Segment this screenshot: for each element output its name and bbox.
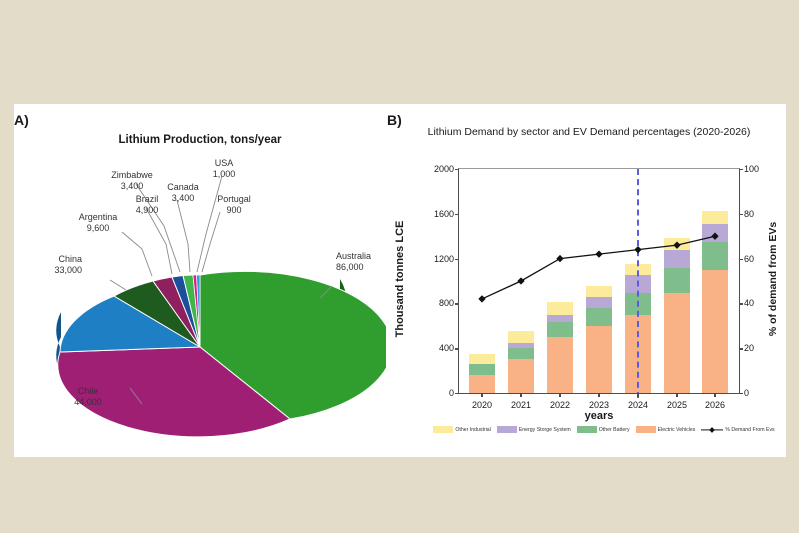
y-right-tick-mark <box>739 393 743 394</box>
bar-y-left-axis-title: Thousand tonnes LCE <box>394 221 406 338</box>
bar-segment-electric-vehicles <box>547 337 573 393</box>
bar-segment-other-battery <box>664 268 690 293</box>
x-tick-mark <box>481 393 482 397</box>
bar-plot-area: 0400800120016002000 020406080100 2020202… <box>458 168 740 394</box>
legend-item[interactable]: Energy Storge System <box>497 426 571 433</box>
bar-segment-electric-vehicles <box>586 326 612 393</box>
y-left-tick-mark <box>455 348 459 349</box>
pie-label-chile: Chile 44,000 <box>58 386 118 407</box>
y-right-tick-label: 60 <box>744 254 772 264</box>
y-right-tick-mark <box>739 259 743 260</box>
x-tick-mark <box>714 393 715 397</box>
bar-segment-other-battery <box>547 322 573 337</box>
bar-column <box>508 169 534 393</box>
bar-segment-electric-vehicles <box>702 270 728 393</box>
legend-label: Other Battery <box>599 427 630 433</box>
bar-chart-legend: Other IndustrialEnergy Storge SystemOthe… <box>426 426 782 433</box>
y-left-tick-label: 1600 <box>424 209 454 219</box>
bar-segment-electric-vehicles <box>664 293 690 393</box>
bar-segment-other-battery <box>586 308 612 326</box>
bar-segment-electric-vehicles <box>469 375 495 393</box>
legend-color-swatch <box>577 426 597 433</box>
y-right-tick-mark <box>739 169 743 170</box>
bar-segment-other-industrial <box>469 354 495 364</box>
y-left-tick-label: 2000 <box>424 164 454 174</box>
legend-item[interactable]: Electric Vehicles <box>636 426 696 433</box>
pie-label-argentina: Argentina 9,600 <box>60 212 136 233</box>
bar-segment-energy-storge-system <box>664 250 690 268</box>
pie-label-china: China 33,000 <box>10 254 82 275</box>
pie-label-usa: USA 1,000 <box>200 158 248 179</box>
y-left-tick-label: 1200 <box>424 254 454 264</box>
bar-segment-energy-storge-system <box>547 315 573 323</box>
bar-y-right-axis-title: % of demand from EVs <box>767 222 779 336</box>
bar-chart-title: Lithium Demand by sector and EV Demand p… <box>394 126 784 138</box>
x-tick-mark <box>637 393 638 397</box>
bar-column <box>664 169 690 393</box>
bar-x-axis-title: years <box>458 410 740 422</box>
legend-item[interactable]: Other Industrial <box>433 426 490 433</box>
y-left-tick-mark <box>455 214 459 215</box>
bar-segment-other-battery <box>508 348 534 360</box>
pie-label-portugal: Portugal 900 <box>206 194 262 215</box>
vertical-dashed-marker-2024 <box>637 169 639 398</box>
y-right-tick-label: 20 <box>744 343 772 353</box>
y-right-tick-label: 0 <box>744 388 772 398</box>
bar-segment-other-industrial <box>586 286 612 297</box>
bar-segment-other-battery <box>469 364 495 375</box>
x-tick-mark <box>520 393 521 397</box>
y-left-tick-mark <box>455 393 459 394</box>
legend-label: Other Industrial <box>455 427 490 433</box>
bar-segment-other-battery <box>702 242 728 270</box>
y-right-tick-label: 80 <box>744 209 772 219</box>
y-right-tick-mark <box>739 214 743 215</box>
legend-color-swatch <box>433 426 453 433</box>
legend-item[interactable]: % Demand From Evs <box>701 426 774 433</box>
legend-item[interactable]: Other Battery <box>577 426 630 433</box>
bar-segment-other-industrial <box>702 211 728 224</box>
x-tick-label: 2026 <box>692 400 738 410</box>
legend-color-swatch <box>636 426 656 433</box>
y-right-tick-mark <box>739 303 743 304</box>
bar-segment-energy-storge-system <box>702 224 728 242</box>
figure-root: A) B) Lithium Production, tons/year <box>0 0 799 533</box>
legend-color-swatch <box>497 426 517 433</box>
bar-segment-energy-storge-system <box>586 297 612 308</box>
pie-label-australia: Australia 86,000 <box>336 251 392 272</box>
x-tick-mark <box>676 393 677 397</box>
y-right-tick-mark <box>739 348 743 349</box>
y-right-tick-label: 100 <box>744 164 772 174</box>
bar-segment-electric-vehicles <box>508 359 534 393</box>
legend-label: Electric Vehicles <box>658 427 696 433</box>
x-tick-mark <box>598 393 599 397</box>
y-left-tick-mark <box>455 303 459 304</box>
bar-segment-other-industrial <box>508 331 534 343</box>
y-left-tick-label: 0 <box>424 388 454 398</box>
bar-column <box>547 169 573 393</box>
panel-b-bar-chart: Lithium Demand by sector and EV Demand p… <box>386 104 786 457</box>
y-right-tick-label: 40 <box>744 298 772 308</box>
y-left-tick-mark <box>455 259 459 260</box>
y-left-tick-label: 800 <box>424 298 454 308</box>
legend-label: Energy Storge System <box>519 427 571 433</box>
bar-column <box>469 169 495 393</box>
panel-a-pie-chart: Lithium Production, tons/year <box>14 104 386 457</box>
bar-segment-other-industrial <box>664 238 690 250</box>
pie-label-canada: Canada 3,400 <box>156 182 210 203</box>
bar-column <box>586 169 612 393</box>
legend-line-marker-icon <box>701 426 723 433</box>
pie-label-zimbabwe: Zimbabwe 3,400 <box>100 170 164 191</box>
legend-label: % Demand From Evs <box>725 427 774 433</box>
y-left-tick-mark <box>455 169 459 170</box>
bar-column <box>702 169 728 393</box>
bar-columns <box>459 169 739 393</box>
bar-segment-other-industrial <box>547 302 573 314</box>
y-left-tick-label: 400 <box>424 343 454 353</box>
x-tick-mark <box>559 393 560 397</box>
